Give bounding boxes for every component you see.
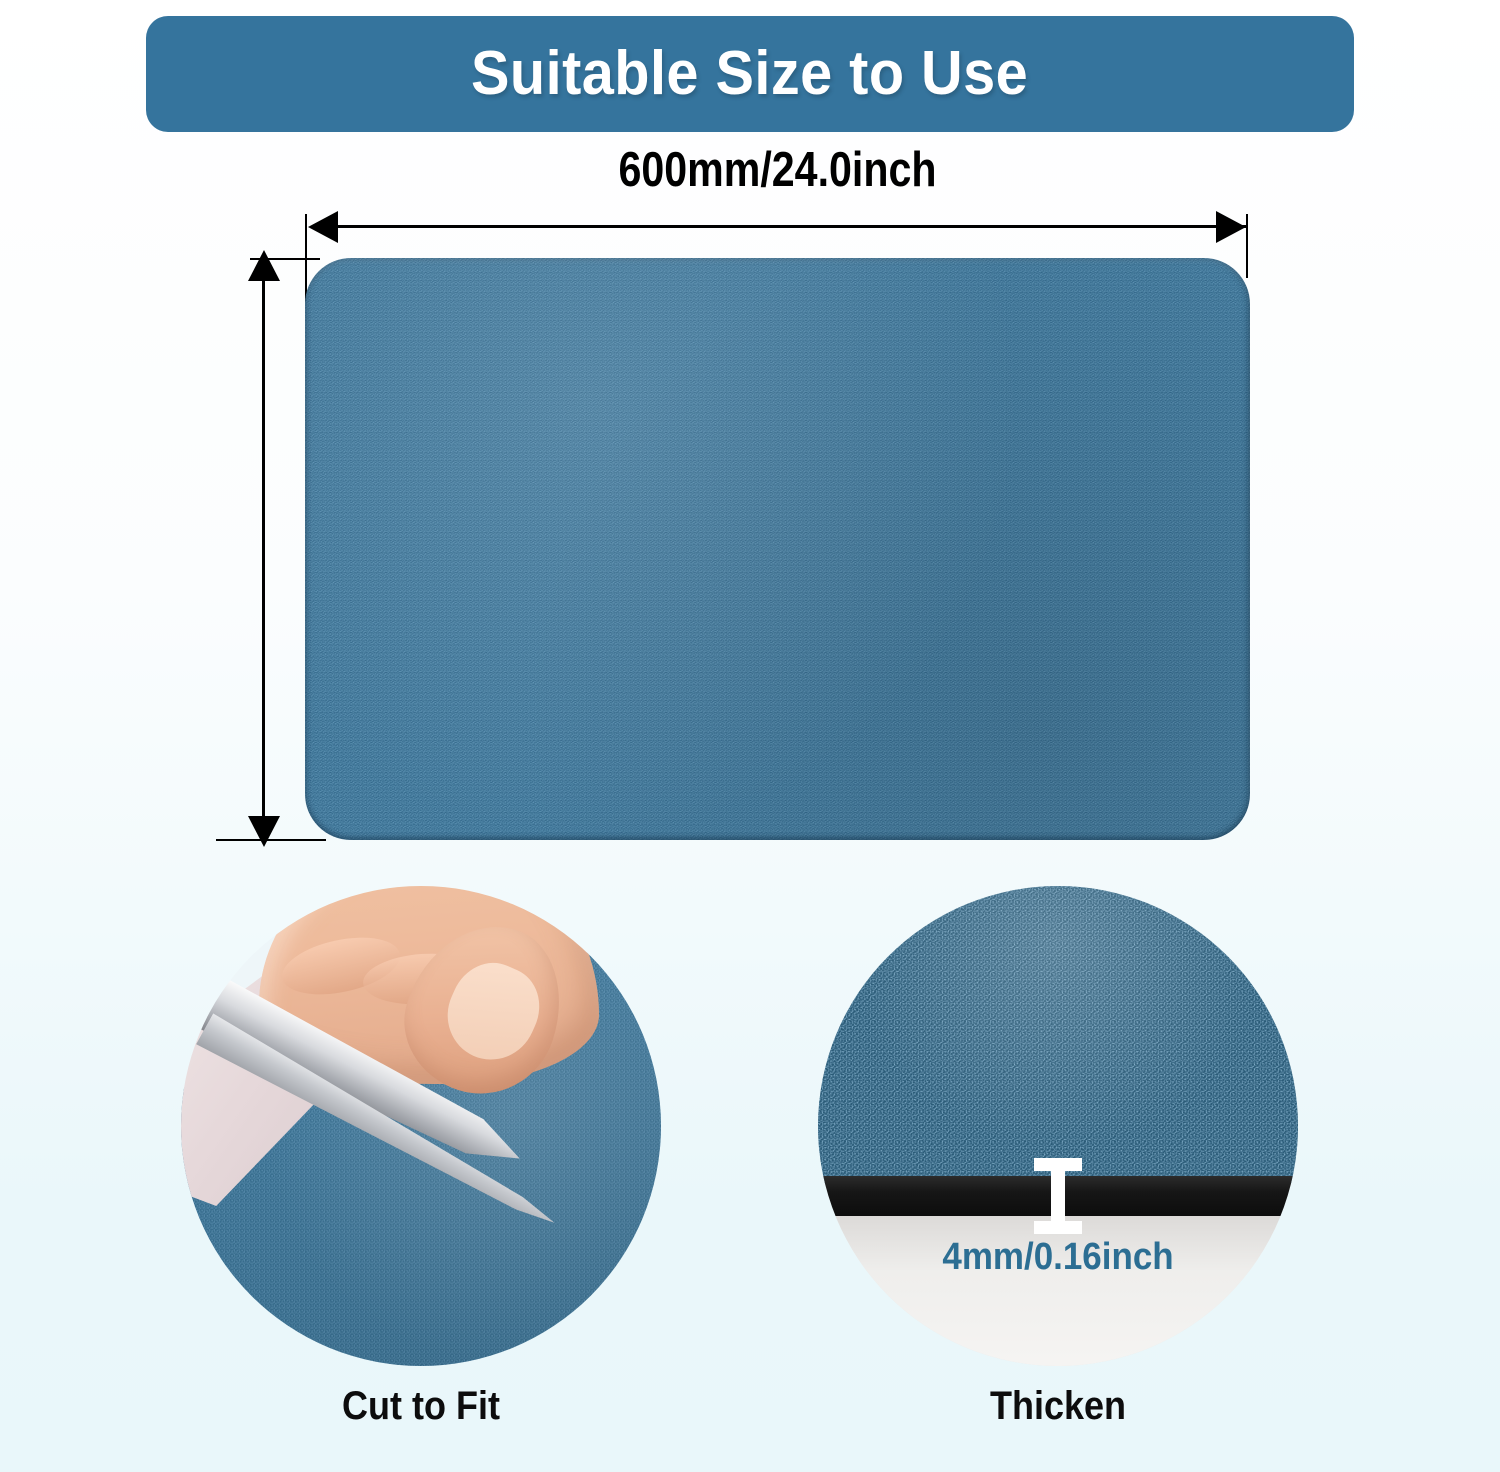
extension-line-right-vertical bbox=[1246, 214, 1248, 278]
marker-bottom-bar bbox=[1034, 1221, 1082, 1234]
desk-mat-shape bbox=[305, 258, 1250, 840]
height-dimension-line bbox=[262, 265, 265, 833]
cut-to-fit-photo bbox=[181, 886, 661, 1366]
page-title: Suitable Size to Use bbox=[471, 43, 1028, 105]
thickness-label: 4mm/0.16inch bbox=[837, 1238, 1279, 1276]
product-infographic: Suitable Size to Use 600mm/24.0inch 400m… bbox=[0, 0, 1500, 1472]
dimension-diagram: 600mm/24.0inch 400mm/16.0inch bbox=[0, 132, 1500, 892]
feature-caption-cut-to-fit: Cut to Fit bbox=[205, 1386, 637, 1426]
thickness-marker-icon bbox=[1034, 1158, 1082, 1234]
feature-thicken: 4mm/0.16inch Thicken bbox=[818, 886, 1318, 1386]
width-dimension-label: 600mm/24.0inch bbox=[381, 146, 1175, 195]
feature-caption-thicken: Thicken bbox=[842, 1386, 1274, 1426]
mat-top-surface bbox=[818, 886, 1298, 1184]
scissors-pivot-icon bbox=[205, 978, 221, 994]
arrow-down-icon bbox=[248, 816, 280, 847]
width-dimension-line bbox=[318, 225, 1246, 228]
arrow-up-icon bbox=[248, 250, 280, 281]
arrow-left-icon bbox=[308, 211, 338, 243]
header-banner: Suitable Size to Use bbox=[146, 16, 1354, 132]
arrow-right-icon bbox=[1216, 211, 1246, 243]
thicken-photo: 4mm/0.16inch bbox=[818, 886, 1298, 1366]
feature-cut-to-fit: Cut to Fit bbox=[181, 886, 681, 1386]
